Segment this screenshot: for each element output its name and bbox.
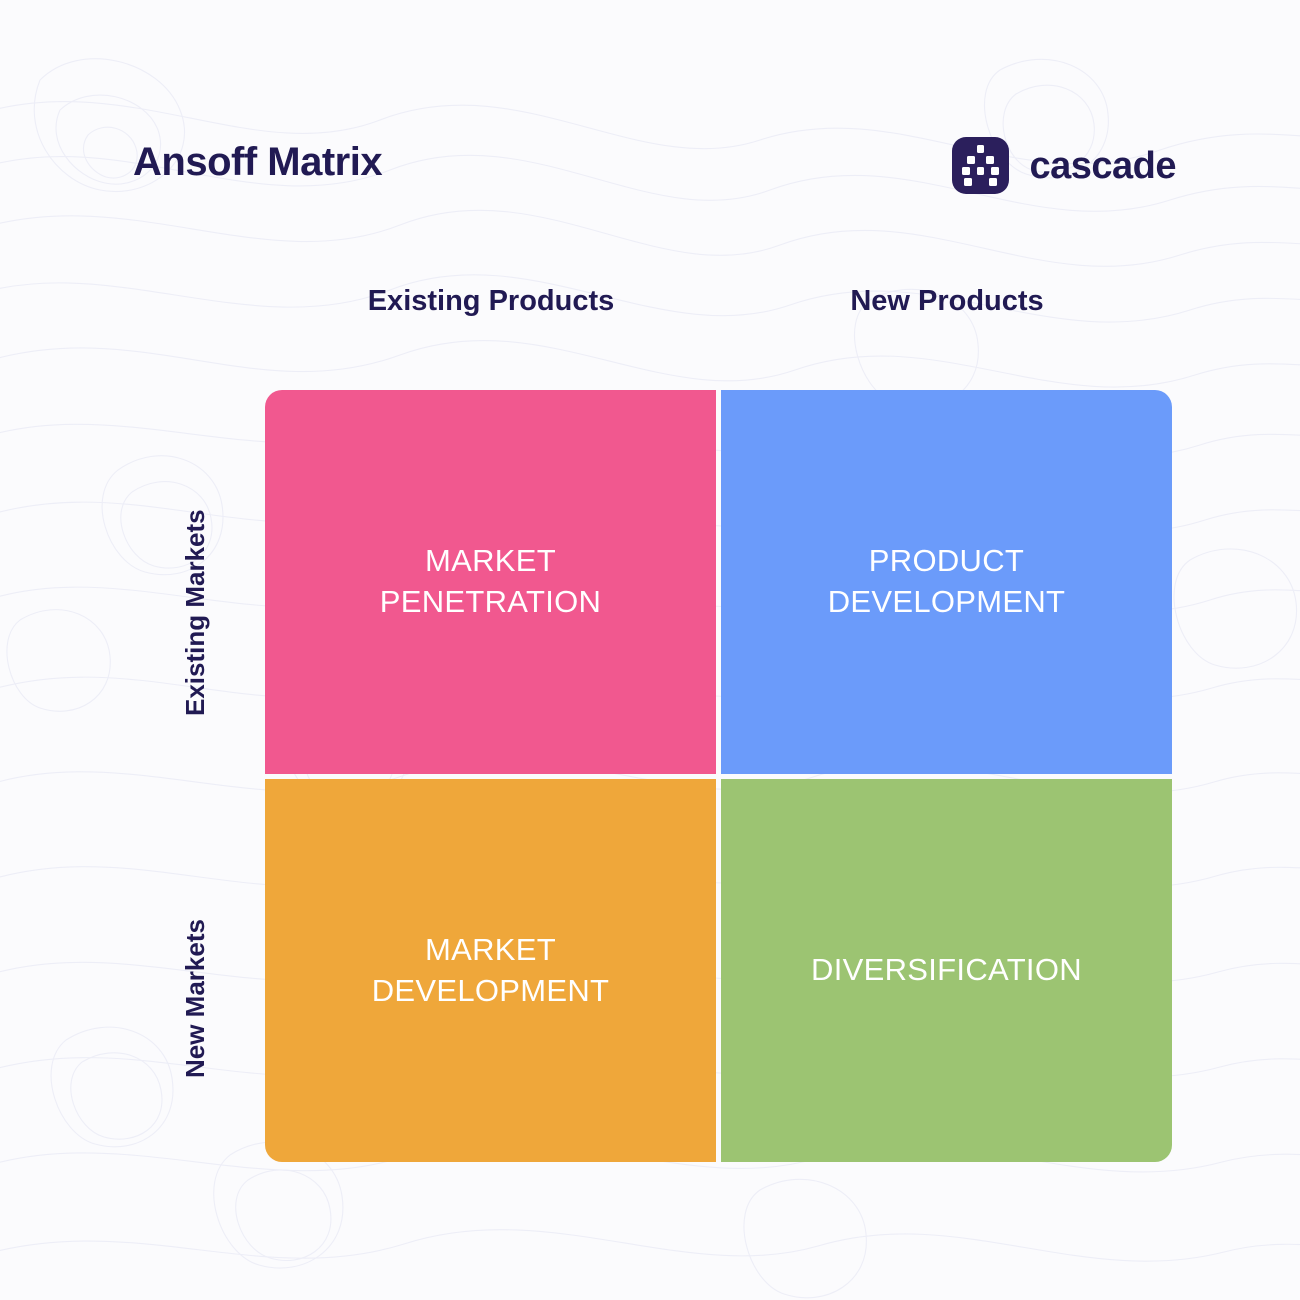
quadrant-label: MARKET DEVELOPMENT [372,930,610,1012]
quadrant-label-line-2: DEVELOPMENT [828,584,1066,619]
quadrant-label: DIVERSIFICATION [811,950,1082,991]
quadrant-product-development[interactable]: PRODUCT DEVELOPMENT [721,390,1172,774]
quadrant-market-penetration[interactable]: MARKET PENETRATION [265,390,716,774]
ansoff-matrix-page: Ansoff Matrix cascade Existing Products … [0,0,1300,1300]
quadrant-label-line-1: MARKET [425,932,556,967]
row-header-new-markets: New Markets [180,919,211,1078]
quadrant-diversification[interactable]: DIVERSIFICATION [721,779,1172,1162]
quadrant-label-line-2: PENETRATION [380,584,601,619]
page-title: Ansoff Matrix [133,140,382,185]
row-header-existing-markets: Existing Markets [180,509,211,716]
quadrant-label-line-1: DIVERSIFICATION [811,952,1082,987]
header: Ansoff Matrix cascade [0,0,1300,230]
quadrant-label: MARKET PENETRATION [380,541,601,623]
quadrant-label-line-2: DEVELOPMENT [372,973,610,1008]
column-header-existing-products: Existing Products [265,285,717,318]
brand-logo: cascade [952,137,1176,194]
quadrant-label-line-1: PRODUCT [869,543,1024,578]
ansoff-matrix-grid: MARKET PENETRATION PRODUCT DEVELOPMENT M… [265,390,1172,1162]
column-header-new-products: New Products [722,285,1172,318]
brand-name: cascade [1029,147,1176,185]
cascade-logo-icon [952,137,1009,194]
quadrant-label: PRODUCT DEVELOPMENT [828,541,1066,623]
quadrant-label-line-1: MARKET [425,543,556,578]
quadrant-market-development[interactable]: MARKET DEVELOPMENT [265,779,716,1162]
